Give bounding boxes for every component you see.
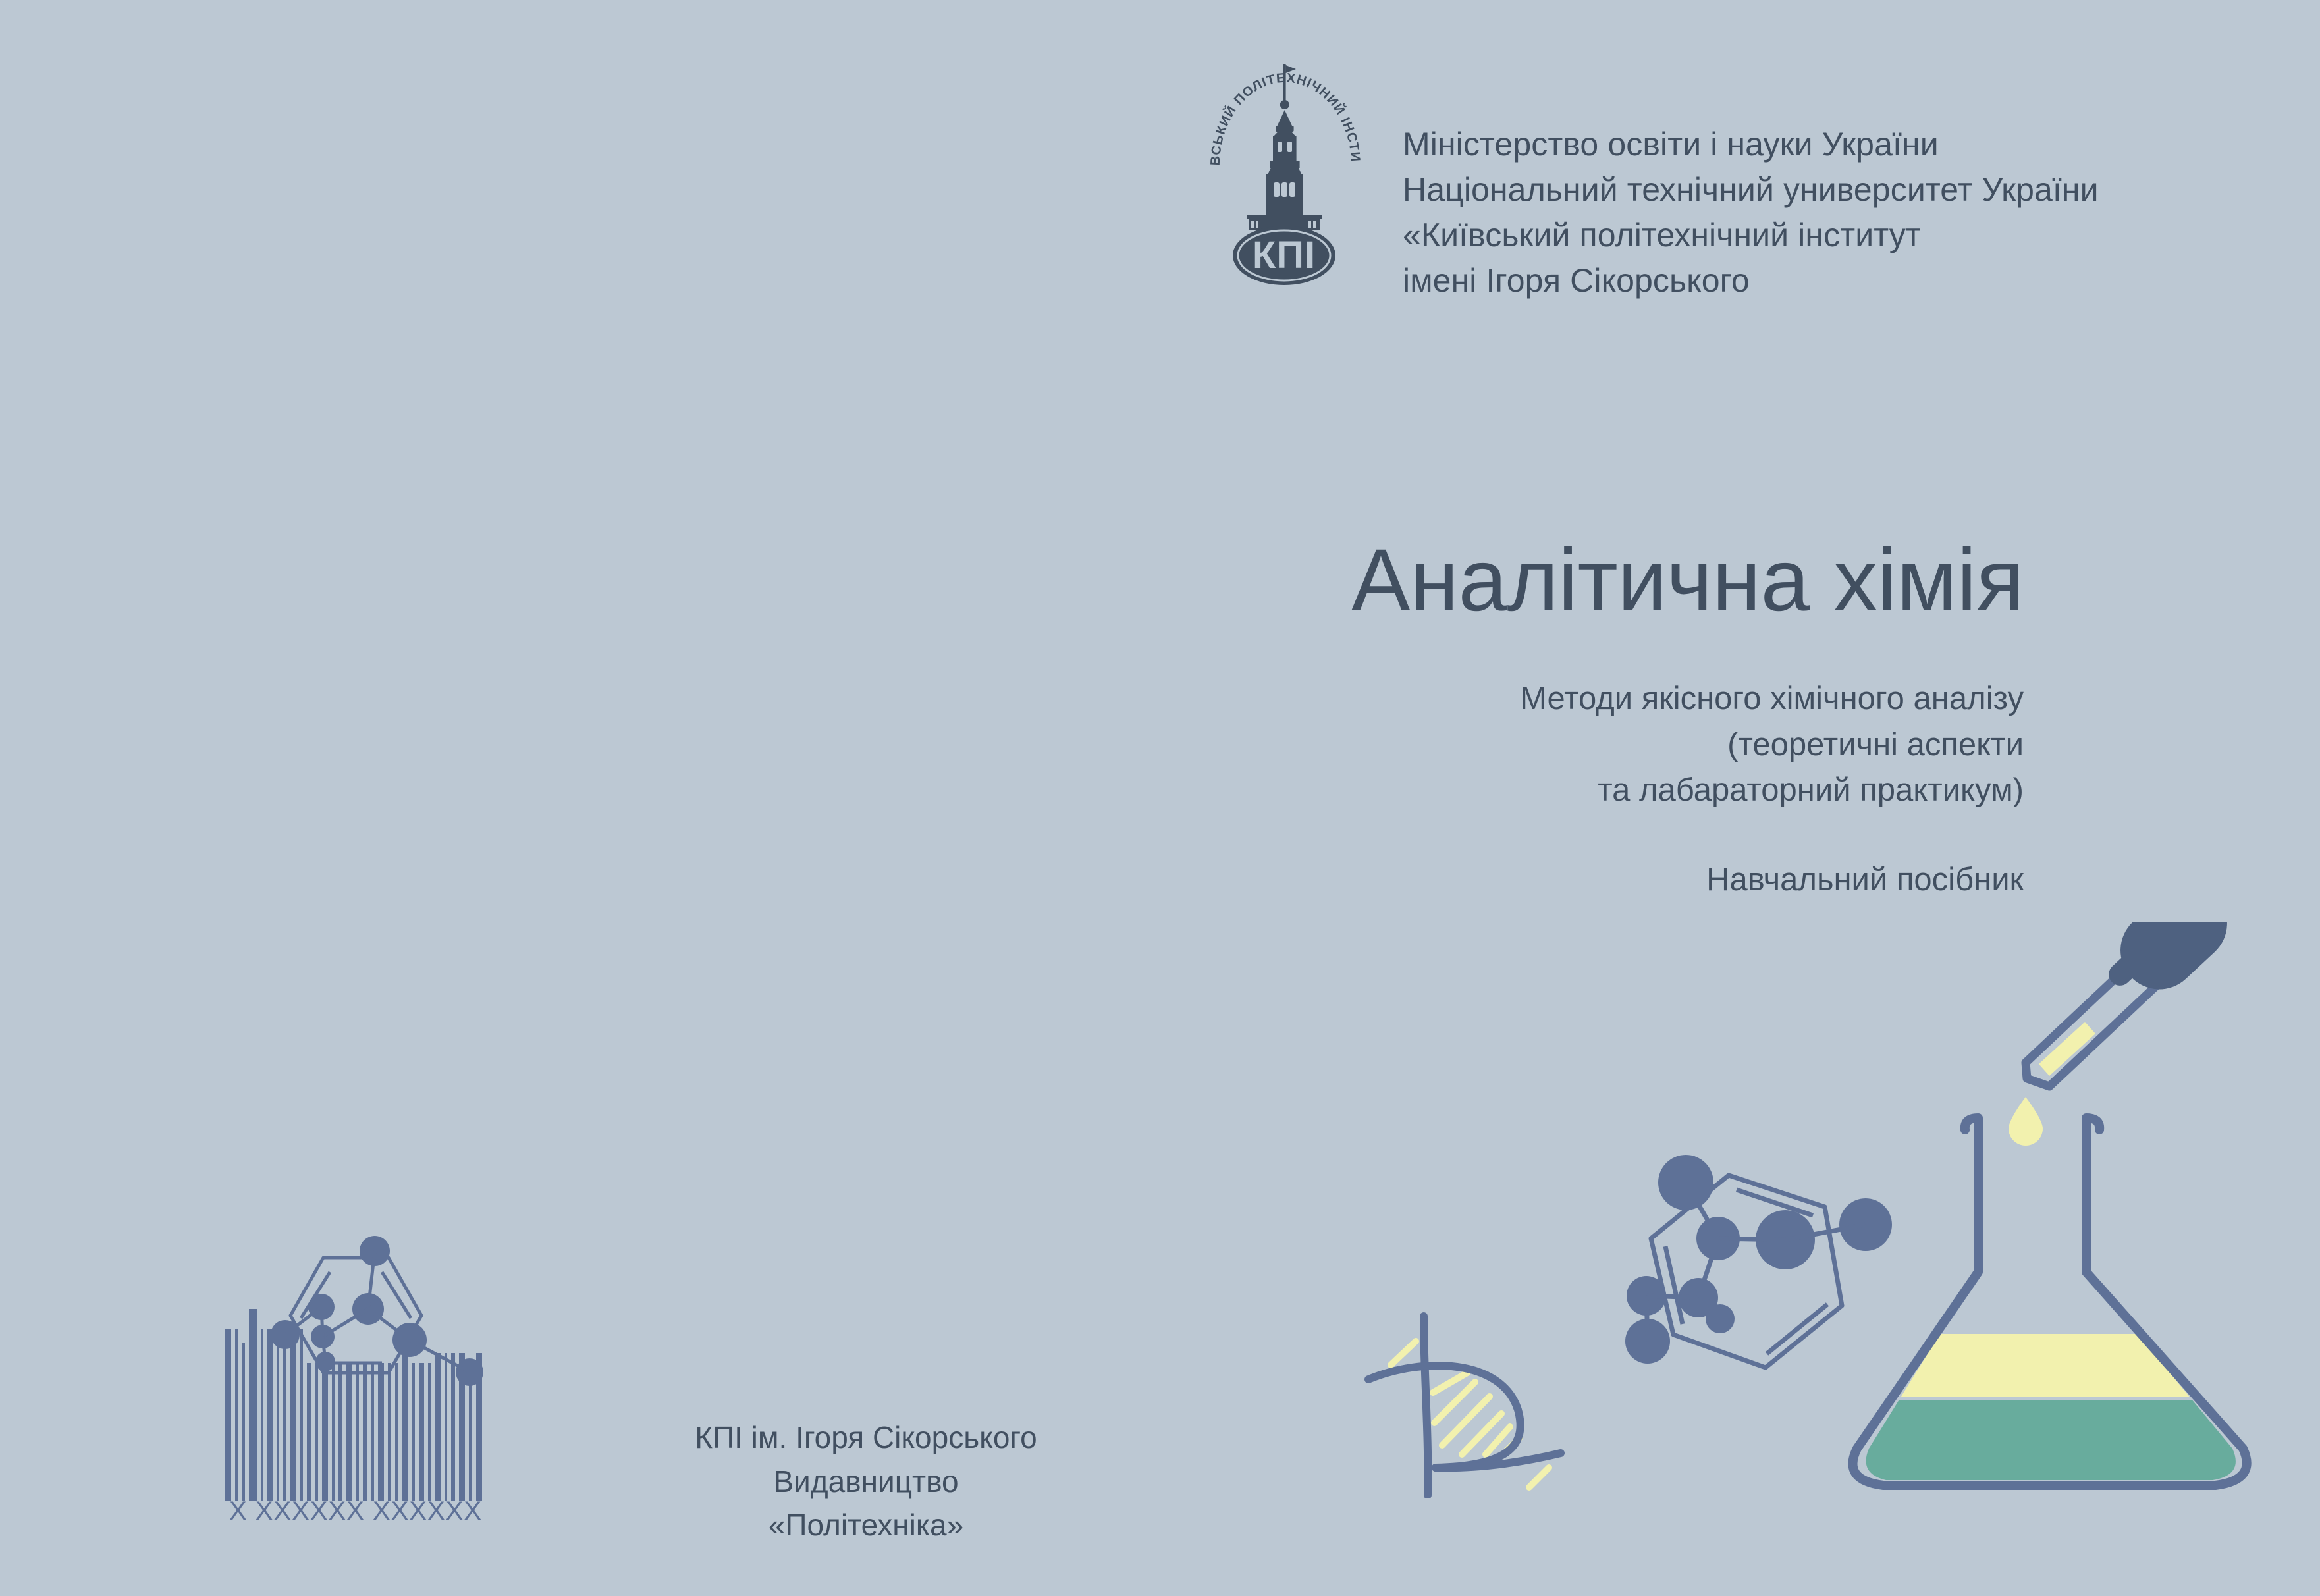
book-cover: КИЇВСЬКИЙ ПОЛІТЕХНІЧНИЙ ІНСТИТУТ	[0, 0, 2320, 1596]
title-block: Аналітична хімія Методи якісного хімічно…	[1200, 537, 2024, 898]
publisher-line-2: Видавництво «Політехніка»	[682, 1460, 1050, 1547]
subtitle-line-3: та лабараторний практикум)	[1200, 768, 2024, 814]
kpi-logo: КИЇВСЬКИЙ ПОЛІТЕХНІЧНИЙ ІНСТИТУТ	[1205, 36, 1366, 290]
barcode-bars	[225, 1309, 482, 1501]
imprint-line-4: імені Ігоря Сікорського	[1403, 258, 2099, 304]
barcode-molecule-illustration: X XXXXXX XXXXXX	[217, 1211, 494, 1528]
pipette-dropper-icon	[2026, 922, 2243, 1086]
page-title: Аналітична хімія	[1200, 537, 2024, 625]
barcode-digits: X XXXXXX XXXXXX	[229, 1497, 482, 1526]
imprint-line-2: Національний технічний университет Украї…	[1403, 167, 2099, 213]
droplet-icon	[2009, 1097, 2043, 1146]
kpi-badge-label: КПІ	[1253, 234, 1316, 277]
imprint-lines: Міністерство освіти і науки України Наці…	[1403, 122, 2099, 304]
publisher-block: КПІ ім. Ігоря Сікорського Видавництво «П…	[682, 1416, 1050, 1547]
imprint-line-3: «Київський політехнічний інститут	[1403, 213, 2099, 258]
publisher-line-1: КПІ ім. Ігоря Сікорського	[682, 1416, 1050, 1460]
header-block: КИЇВСЬКИЙ ПОЛІТЕХНІЧНИЙ ІНСТИТУТ	[1205, 36, 2099, 304]
dna-helix-illustration	[1350, 1300, 1567, 1498]
flask-pipette-illustration	[1818, 922, 2318, 1514]
subtitle-block: Методи якісного хімічного аналізу (теоре…	[1200, 676, 2024, 814]
imprint-line-1: Міністерство освіти і науки України	[1403, 122, 2099, 167]
subtitle-line-2: (теоретичні аспекти	[1200, 722, 2024, 768]
book-kind-label: Навчальний посібник	[1200, 861, 2024, 898]
subtitle-line-1: Методи якісного хімічного аналізу	[1200, 676, 2024, 722]
dna-strands	[1368, 1316, 1561, 1495]
